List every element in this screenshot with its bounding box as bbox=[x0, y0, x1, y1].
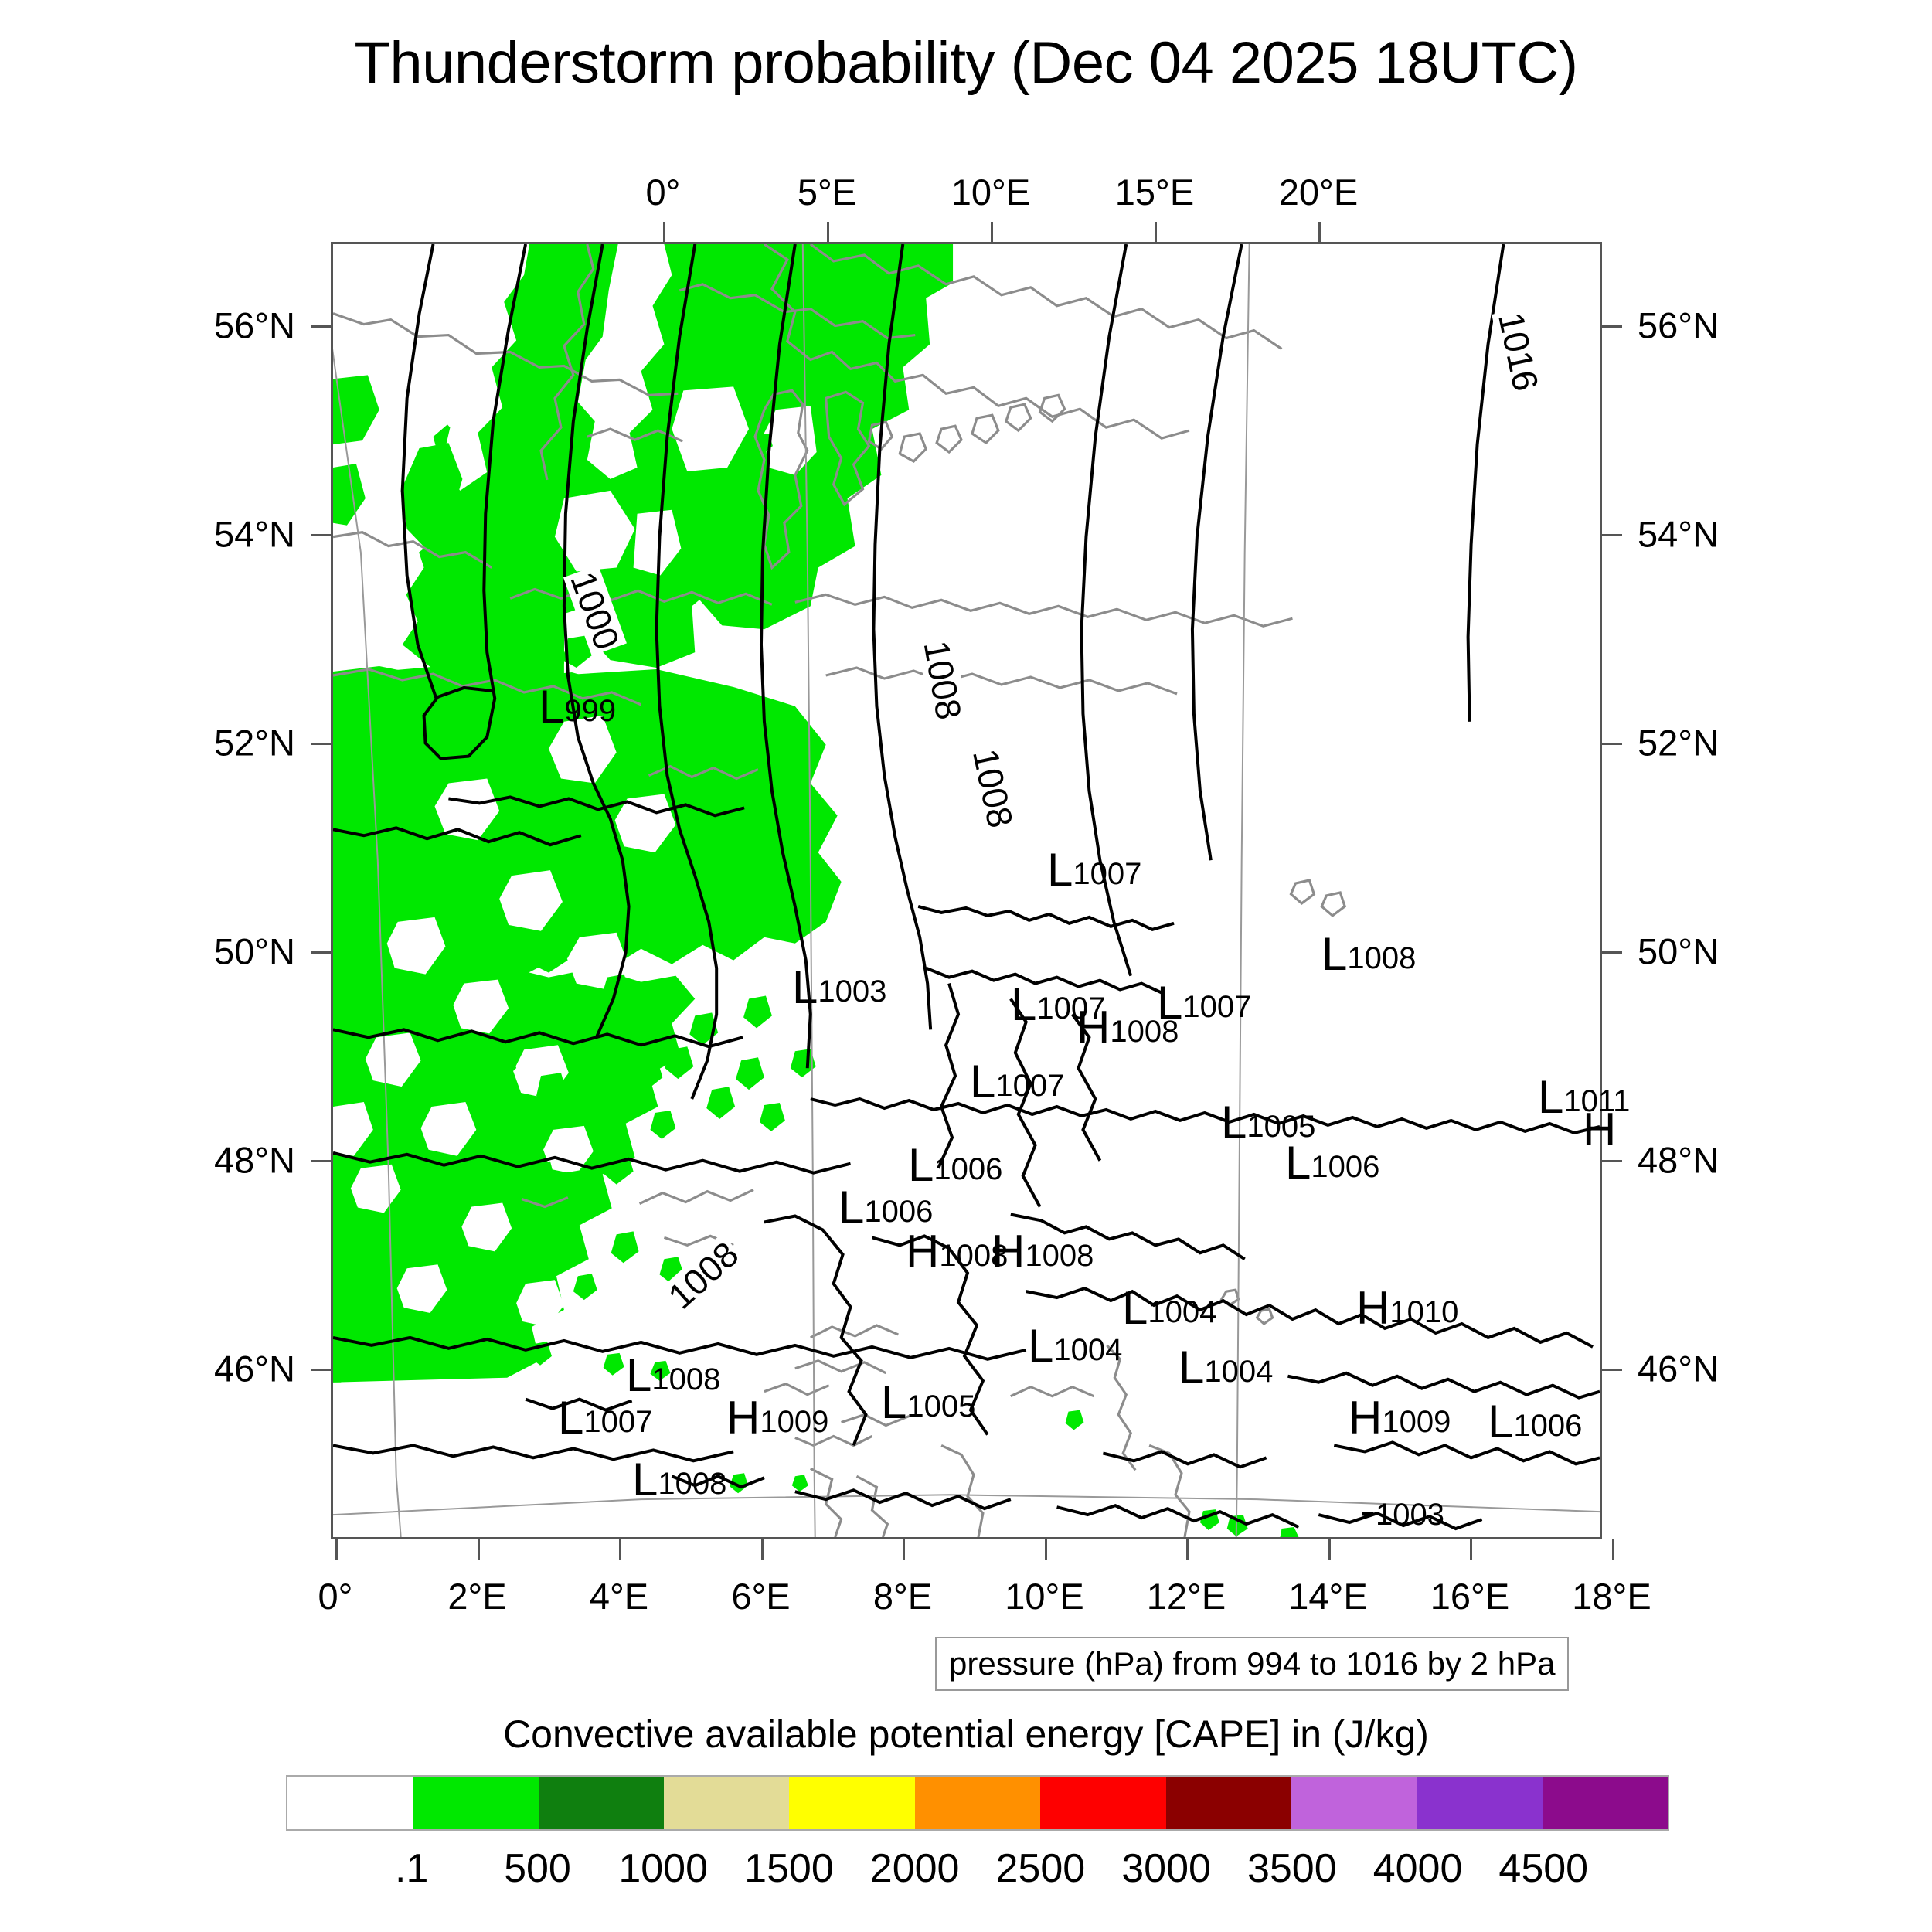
longitude-tick-top-2: 10°E bbox=[951, 171, 1030, 213]
longitude-tick-bottom-1: 2°E bbox=[447, 1575, 506, 1617]
pressure-centre-type: H bbox=[1077, 1002, 1110, 1053]
pressure-centre-low-16: L1004 bbox=[1122, 1285, 1216, 1332]
axis-tickmark bbox=[311, 1160, 331, 1162]
axis-tickmark bbox=[1186, 1539, 1189, 1560]
pressure-centre-type: L bbox=[908, 1139, 934, 1191]
longitude-tick-bottom-2: 4°E bbox=[590, 1575, 648, 1617]
colorbar-caption: Convective available potential energy [C… bbox=[0, 1712, 1932, 1757]
longitude-tick-top-1: 5°E bbox=[798, 171, 856, 213]
pressure-centre-value: 1003 bbox=[1376, 1498, 1444, 1532]
latitude-tick-right-3: 50°N bbox=[1638, 930, 1719, 973]
longitude-tick-bottom-0: 0° bbox=[318, 1575, 353, 1617]
pressure-centre-value: 1004 bbox=[1053, 1333, 1122, 1367]
pressure-centre-low-25: L1006 bbox=[1488, 1399, 1582, 1445]
axis-tickmark bbox=[1155, 222, 1157, 242]
page-title: Thunderstorm probability (Dec 04 2025 18… bbox=[0, 29, 1932, 97]
colorbar-tick-5: 2500 bbox=[996, 1845, 1086, 1892]
pressure-centre-low-21: L1005 bbox=[881, 1379, 975, 1426]
colorbar-swatch-6[interactable] bbox=[1040, 1777, 1165, 1829]
colorbar-swatch-5[interactable] bbox=[915, 1777, 1040, 1829]
colorbar-tick-3: 1500 bbox=[744, 1845, 834, 1892]
pressure-centre-type: L bbox=[970, 1056, 995, 1107]
pressure-centre-high-23: H1009 bbox=[726, 1395, 828, 1441]
latitude-tick-right-5: 46°N bbox=[1638, 1348, 1719, 1390]
pressure-centre-value: 1006 bbox=[1311, 1150, 1379, 1184]
pressure-centre-high-24: H1009 bbox=[1349, 1395, 1451, 1441]
latitude-tick-right-0: 56°N bbox=[1638, 304, 1719, 347]
axis-tickmark bbox=[311, 951, 331, 954]
pressure-centre-type: L bbox=[1179, 1342, 1204, 1393]
axis-tickmark bbox=[311, 1369, 331, 1371]
axis-tickmark bbox=[1602, 951, 1622, 954]
axis-tickmark bbox=[827, 222, 829, 242]
longitude-tick-bottom-5: 10°E bbox=[1005, 1575, 1083, 1617]
axis-tickmark bbox=[1602, 534, 1622, 536]
axis-tickmark bbox=[663, 222, 665, 242]
axis-tickmark bbox=[311, 534, 331, 536]
pressure-centre-value: 1009 bbox=[1382, 1405, 1451, 1439]
pressure-centre-type: H bbox=[1583, 1104, 1616, 1155]
colorbar-swatch-2[interactable] bbox=[539, 1777, 664, 1829]
pressure-centre-low-0: L999 bbox=[539, 684, 616, 730]
axis-tickmark bbox=[761, 1539, 764, 1560]
pressure-centre-value: 1007 bbox=[995, 1069, 1064, 1103]
axis-tickmark bbox=[1602, 1160, 1622, 1162]
pressure-centre-value: 1008 bbox=[1025, 1239, 1094, 1273]
pressure-centre-low-11: L1006 bbox=[1285, 1140, 1379, 1186]
longitude-tick-bottom-8: 16°E bbox=[1430, 1575, 1509, 1617]
pressure-centre-type: L bbox=[632, 1454, 658, 1505]
pressure-centre-low-22: L1007 bbox=[558, 1395, 652, 1441]
pressure-centre-type: L bbox=[1011, 978, 1036, 1030]
pressure-centre-low-7: L1007 bbox=[970, 1059, 1064, 1105]
colorbar-tick-6: 3000 bbox=[1121, 1845, 1211, 1892]
axis-tickmark bbox=[619, 1539, 621, 1560]
latitude-tick-right-2: 52°N bbox=[1638, 722, 1719, 764]
colorbar-tick-8: 4000 bbox=[1373, 1845, 1463, 1892]
pressure-centre-type: H bbox=[1349, 1392, 1382, 1444]
latitude-tick-left-4: 48°N bbox=[214, 1139, 295, 1182]
pressure-centre-high-10: H bbox=[1583, 1107, 1616, 1153]
pressure-centre-low-13: L1006 bbox=[838, 1185, 933, 1231]
pressure-legend: pressure (hPa) from 994 to 1016 by 2 hPa bbox=[935, 1637, 1569, 1691]
pressure-centre-value: 1009 bbox=[760, 1405, 828, 1439]
pressure-centre-high-17: H1010 bbox=[1356, 1285, 1458, 1332]
latitude-tick-left-5: 46°N bbox=[214, 1348, 295, 1390]
axis-tickmark bbox=[1612, 1539, 1614, 1560]
axis-tickmark bbox=[335, 1539, 338, 1560]
pressure-centre-low-2: L1007 bbox=[1047, 847, 1141, 893]
pressure-centre-low-1: L1003 bbox=[792, 964, 886, 1011]
colorbar-tick-labels: .150010001500200025003000350040004500 bbox=[286, 1845, 1669, 1892]
axis-tickmark bbox=[1045, 1539, 1047, 1560]
axis-tickmark bbox=[1328, 1539, 1331, 1560]
pressure-centre-value: 1008 bbox=[658, 1467, 726, 1501]
axis-tickmark bbox=[1470, 1539, 1472, 1560]
pressure-centre-value: 1005 bbox=[906, 1389, 975, 1423]
pressure-centre-value: 1008 bbox=[651, 1362, 720, 1396]
pressure-centre-value: 1006 bbox=[934, 1152, 1002, 1186]
longitude-tick-bottom-3: 6°E bbox=[731, 1575, 790, 1617]
axis-tickmark bbox=[903, 1539, 905, 1560]
axis-tickmark bbox=[311, 325, 331, 328]
longitude-tick-top-0: 0° bbox=[646, 171, 681, 213]
pressure-centre-value: 1006 bbox=[864, 1195, 933, 1229]
axis-tickmark bbox=[1602, 1369, 1622, 1371]
map-canvas bbox=[333, 244, 1600, 1537]
axis-tickmark bbox=[478, 1539, 480, 1560]
pressure-centre-type: H bbox=[992, 1226, 1025, 1277]
longitude-tick-top-3: 15°E bbox=[1115, 171, 1194, 213]
pressure-centre-value: 1004 bbox=[1148, 1295, 1216, 1329]
axis-tickmark bbox=[1602, 743, 1622, 745]
pressure-centre-type: - bbox=[1360, 1485, 1376, 1536]
pressure-centre-type: H bbox=[906, 1226, 939, 1277]
pressure-centre-value: 999 bbox=[564, 694, 616, 728]
pressure-centre-low-19: L1004 bbox=[1179, 1345, 1273, 1391]
colorbar-swatch-10[interactable] bbox=[1543, 1777, 1669, 1829]
cape-shading-layer bbox=[333, 244, 1298, 1537]
pressure-centre-low-20: L1008 bbox=[626, 1352, 720, 1399]
pressure-centre-type: L bbox=[1047, 844, 1073, 896]
longitude-tick-bottom-4: 8°E bbox=[873, 1575, 932, 1617]
longitude-tick-bottom-7: 14°E bbox=[1288, 1575, 1367, 1617]
latitude-tick-left-2: 52°N bbox=[214, 722, 295, 764]
colorbar-tick-2: 1000 bbox=[618, 1845, 708, 1892]
pressure-centre-type: L bbox=[1321, 928, 1347, 980]
pressure-centre-value: 1006 bbox=[1513, 1409, 1582, 1443]
pressure-centre-low-12: L1006 bbox=[908, 1142, 1002, 1189]
pressure-centre-type: H bbox=[726, 1392, 760, 1444]
pressure-centre-type: L bbox=[1538, 1071, 1563, 1123]
colorbar-swatch-0[interactable] bbox=[286, 1777, 413, 1829]
colorbar-swatch-8[interactable] bbox=[1291, 1777, 1417, 1829]
latitude-tick-left-3: 50°N bbox=[214, 930, 295, 973]
latitude-tick-left-1: 54°N bbox=[214, 513, 295, 556]
colorbar-swatch-7[interactable] bbox=[1166, 1777, 1291, 1829]
colorbar[interactable] bbox=[286, 1775, 1669, 1831]
axis-tickmark bbox=[311, 743, 331, 745]
latitude-tick-left-0: 56°N bbox=[214, 304, 295, 347]
pressure-centre-high-15: H1008 bbox=[992, 1229, 1094, 1275]
pressure-centre-type: L bbox=[792, 961, 818, 1013]
pressure-centre-type: H bbox=[1356, 1282, 1389, 1334]
longitude-tick-bottom-6: 12°E bbox=[1147, 1575, 1226, 1617]
colorbar-tick-7: 3500 bbox=[1247, 1845, 1337, 1892]
pressure-centre-value: 1008 bbox=[1347, 941, 1416, 975]
colorbar-swatch-3[interactable] bbox=[664, 1777, 789, 1829]
pressure-centre-value: 1008 bbox=[1110, 1015, 1179, 1049]
axis-tickmark bbox=[991, 222, 993, 242]
pressure-centre-type: L bbox=[1285, 1137, 1311, 1189]
axis-tickmark bbox=[1318, 222, 1321, 242]
colorbar-tick-0: .1 bbox=[395, 1845, 428, 1892]
pressure-centre-low-26: L1008 bbox=[632, 1457, 726, 1503]
pressure-centre-value: 1004 bbox=[1204, 1355, 1273, 1389]
colorbar-swatch-9[interactable] bbox=[1417, 1777, 1542, 1829]
longitude-tick-top-4: 20°E bbox=[1279, 171, 1358, 213]
axis-tickmark bbox=[1602, 325, 1622, 328]
pressure-centre-low-18: L1004 bbox=[1028, 1323, 1122, 1369]
pressure-centre-type: L bbox=[1122, 1282, 1148, 1334]
colorbar-swatch-1[interactable] bbox=[413, 1777, 538, 1829]
map-plot-area[interactable] bbox=[331, 242, 1602, 1539]
longitude-tick-bottom-9: 18°E bbox=[1572, 1575, 1651, 1617]
pressure-centre-type: L bbox=[1028, 1320, 1053, 1372]
pressure-centre-type: L bbox=[881, 1376, 906, 1428]
colorbar-tick-9: 4500 bbox=[1498, 1845, 1588, 1892]
pressure-centre-value: 1007 bbox=[583, 1405, 652, 1439]
latitude-tick-right-4: 48°N bbox=[1638, 1139, 1719, 1182]
pressure-centre-value: 1003 bbox=[818, 975, 886, 1009]
pressure-centre-type: L bbox=[558, 1392, 583, 1444]
colorbar-tick-4: 2000 bbox=[870, 1845, 960, 1892]
pressure-centre-type: L bbox=[1221, 1097, 1247, 1148]
pressure-centre-low-3: L1008 bbox=[1321, 931, 1416, 978]
pressure-centre-type: L bbox=[1488, 1396, 1513, 1447]
pressure-centre-type: L bbox=[539, 681, 564, 733]
pressure-centre-value: 1010 bbox=[1389, 1295, 1458, 1329]
pressure-centre-type: L bbox=[838, 1182, 864, 1233]
pressure-centre-type: L bbox=[626, 1349, 651, 1401]
colorbar-tick-1: 500 bbox=[504, 1845, 571, 1892]
pressure-centre-low-27: -1003 bbox=[1360, 1488, 1444, 1534]
latitude-tick-right-1: 54°N bbox=[1638, 513, 1719, 556]
pressure-centre-high-6: H1008 bbox=[1077, 1005, 1179, 1051]
colorbar-swatch-4[interactable] bbox=[789, 1777, 914, 1829]
pressure-centre-value: 1007 bbox=[1182, 990, 1251, 1024]
pressure-centre-value: 1007 bbox=[1073, 857, 1141, 891]
